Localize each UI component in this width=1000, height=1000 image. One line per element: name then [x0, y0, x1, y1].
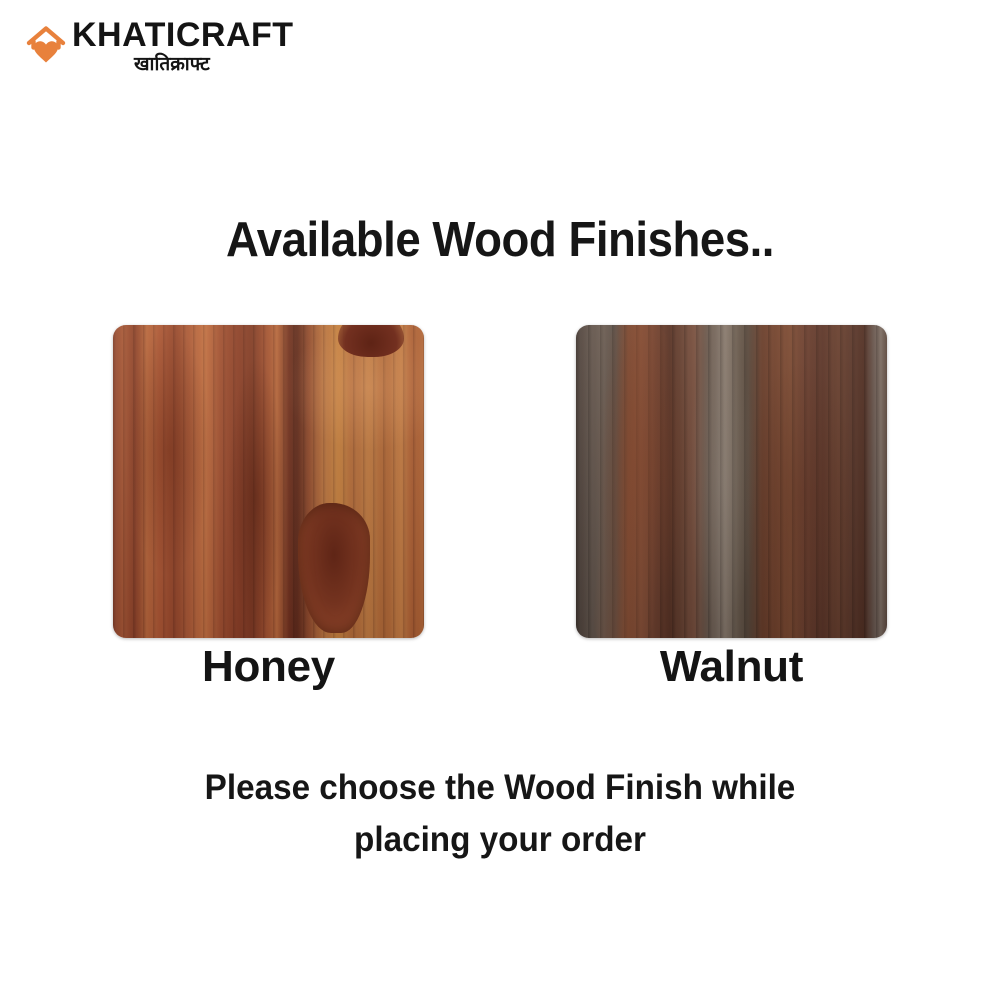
page-title: Available Wood Finishes.. [35, 212, 965, 268]
instruction-note: Please choose the Wood Finish while plac… [25, 762, 975, 866]
instruction-note-line-2: placing your order [25, 814, 975, 866]
wood-swatch-honey[interactable] [113, 325, 424, 638]
finish-option-honey[interactable]: Honey [113, 325, 424, 692]
brand-text: KHATICRAFT खातिक्राफ्ट [72, 18, 294, 74]
finish-option-walnut[interactable]: Walnut [576, 325, 887, 692]
brand-subtitle: खातिक्राफ्ट [134, 55, 294, 74]
honey-knot-top-icon [338, 325, 404, 357]
brand-name: KHATICRAFT [72, 18, 294, 52]
instruction-note-line-1: Please choose the Wood Finish while [25, 762, 975, 814]
house-heart-icon [26, 22, 66, 66]
honey-knot-bottom-icon [298, 503, 370, 633]
finish-label-honey: Honey [113, 642, 424, 692]
finish-label-walnut: Walnut [576, 642, 887, 692]
brand-logo: KHATICRAFT खातिक्राफ्ट [26, 18, 294, 74]
wood-finish-options: Honey Walnut [0, 325, 1000, 695]
wood-swatch-walnut[interactable] [576, 325, 887, 638]
honey-grain-shading [113, 325, 424, 638]
